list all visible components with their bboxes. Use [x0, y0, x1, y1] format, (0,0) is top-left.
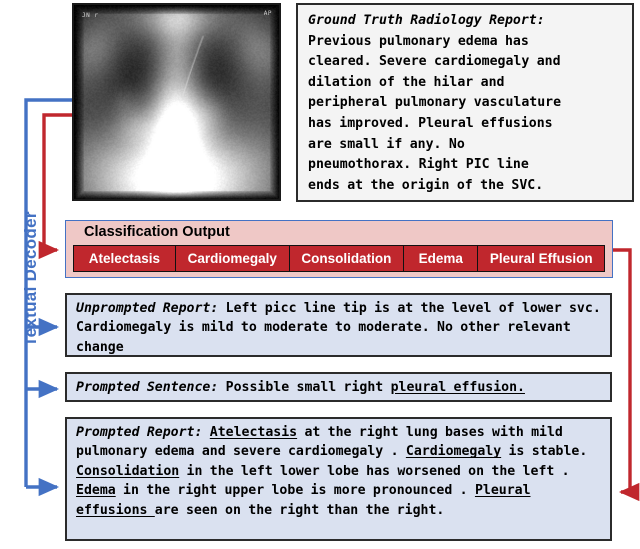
classification-label-atelectasis[interactable]: Atelectasis	[74, 246, 176, 271]
textual-decoder-label: Textual Decoder	[20, 199, 42, 359]
highlighted-finding: Edema	[76, 483, 116, 498]
classification-label-cardiomegaly[interactable]: Cardiomegaly	[176, 246, 290, 271]
ground-truth-line: pneumothorax. Right PIC line	[308, 157, 529, 172]
xray-marker-right: AP	[264, 10, 272, 17]
unprompted-report-box: Unprompted Report: Left picc line tip is…	[65, 293, 612, 357]
report-text-segment: Possible small right	[226, 380, 391, 395]
unprompted-report-header: Unprompted Report:	[76, 301, 226, 316]
prompted-sentence-text: Prompted Sentence: Possible small right …	[76, 378, 604, 397]
prompted-report-text: Prompted Report: Atelectasis at the righ…	[76, 423, 604, 520]
chest-xray-image: JN r AP	[72, 3, 281, 201]
classification-label-row: AtelectasisCardiomegalyConsolidationEdem…	[73, 245, 605, 272]
report-text-segment: is stable.	[501, 444, 587, 459]
ground-truth-line: peripheral pulmonary vasculature	[308, 95, 561, 110]
ground-truth-line: Previous pulmonary edema has	[308, 34, 529, 49]
ground-truth-header: Ground Truth Radiology Report:	[308, 13, 545, 28]
highlighted-finding: Cardiomegaly	[406, 444, 501, 459]
ground-truth-report-box: Ground Truth Radiology Report:Previous p…	[296, 3, 634, 202]
prompted-sentence-header: Prompted Sentence:	[76, 380, 226, 395]
classification-label-pleural-effusion[interactable]: Pleural Effusion	[478, 246, 604, 271]
prompted-report-box: Prompted Report: Atelectasis at the righ…	[65, 417, 612, 541]
ground-truth-line: are small if any. No	[308, 137, 465, 152]
classification-output-panel: Classification Output AtelectasisCardiom…	[65, 220, 613, 278]
ground-truth-line: cleared. Severe cardiomegaly and	[308, 54, 561, 69]
highlighted-finding: pleural effusion.	[391, 380, 525, 395]
report-text-segment: in the right upper lobe is more pronounc…	[116, 483, 475, 498]
classification-label-edema[interactable]: Edema	[404, 246, 478, 271]
red-feedback-arrow	[613, 250, 630, 492]
ground-truth-line: ends at the origin of the SVC.	[308, 178, 543, 193]
xray-marker-left: JN r	[82, 12, 98, 19]
chest-xray-canvas	[74, 5, 279, 199]
highlighted-finding: Atelectasis	[210, 425, 297, 440]
report-text-segment: in the left lower lobe has worsened on t…	[179, 464, 569, 479]
ground-truth-line: has improved. Pleural effusions	[308, 116, 553, 131]
ground-truth-line: dilation of the hilar and	[308, 75, 505, 90]
classification-output-title: Classification Output	[84, 224, 230, 240]
report-text-segment: are seen on the right than the right.	[155, 503, 445, 518]
highlighted-finding: Consolidation	[76, 464, 179, 479]
unprompted-report-text: Unprompted Report: Left picc line tip is…	[76, 299, 604, 357]
prompted-report-header: Prompted Report:	[76, 425, 210, 440]
ground-truth-report-text: Ground Truth Radiology Report:Previous p…	[308, 11, 624, 196]
prompted-sentence-box: Prompted Sentence: Possible small right …	[65, 372, 612, 402]
classification-label-consolidation[interactable]: Consolidation	[290, 246, 404, 271]
